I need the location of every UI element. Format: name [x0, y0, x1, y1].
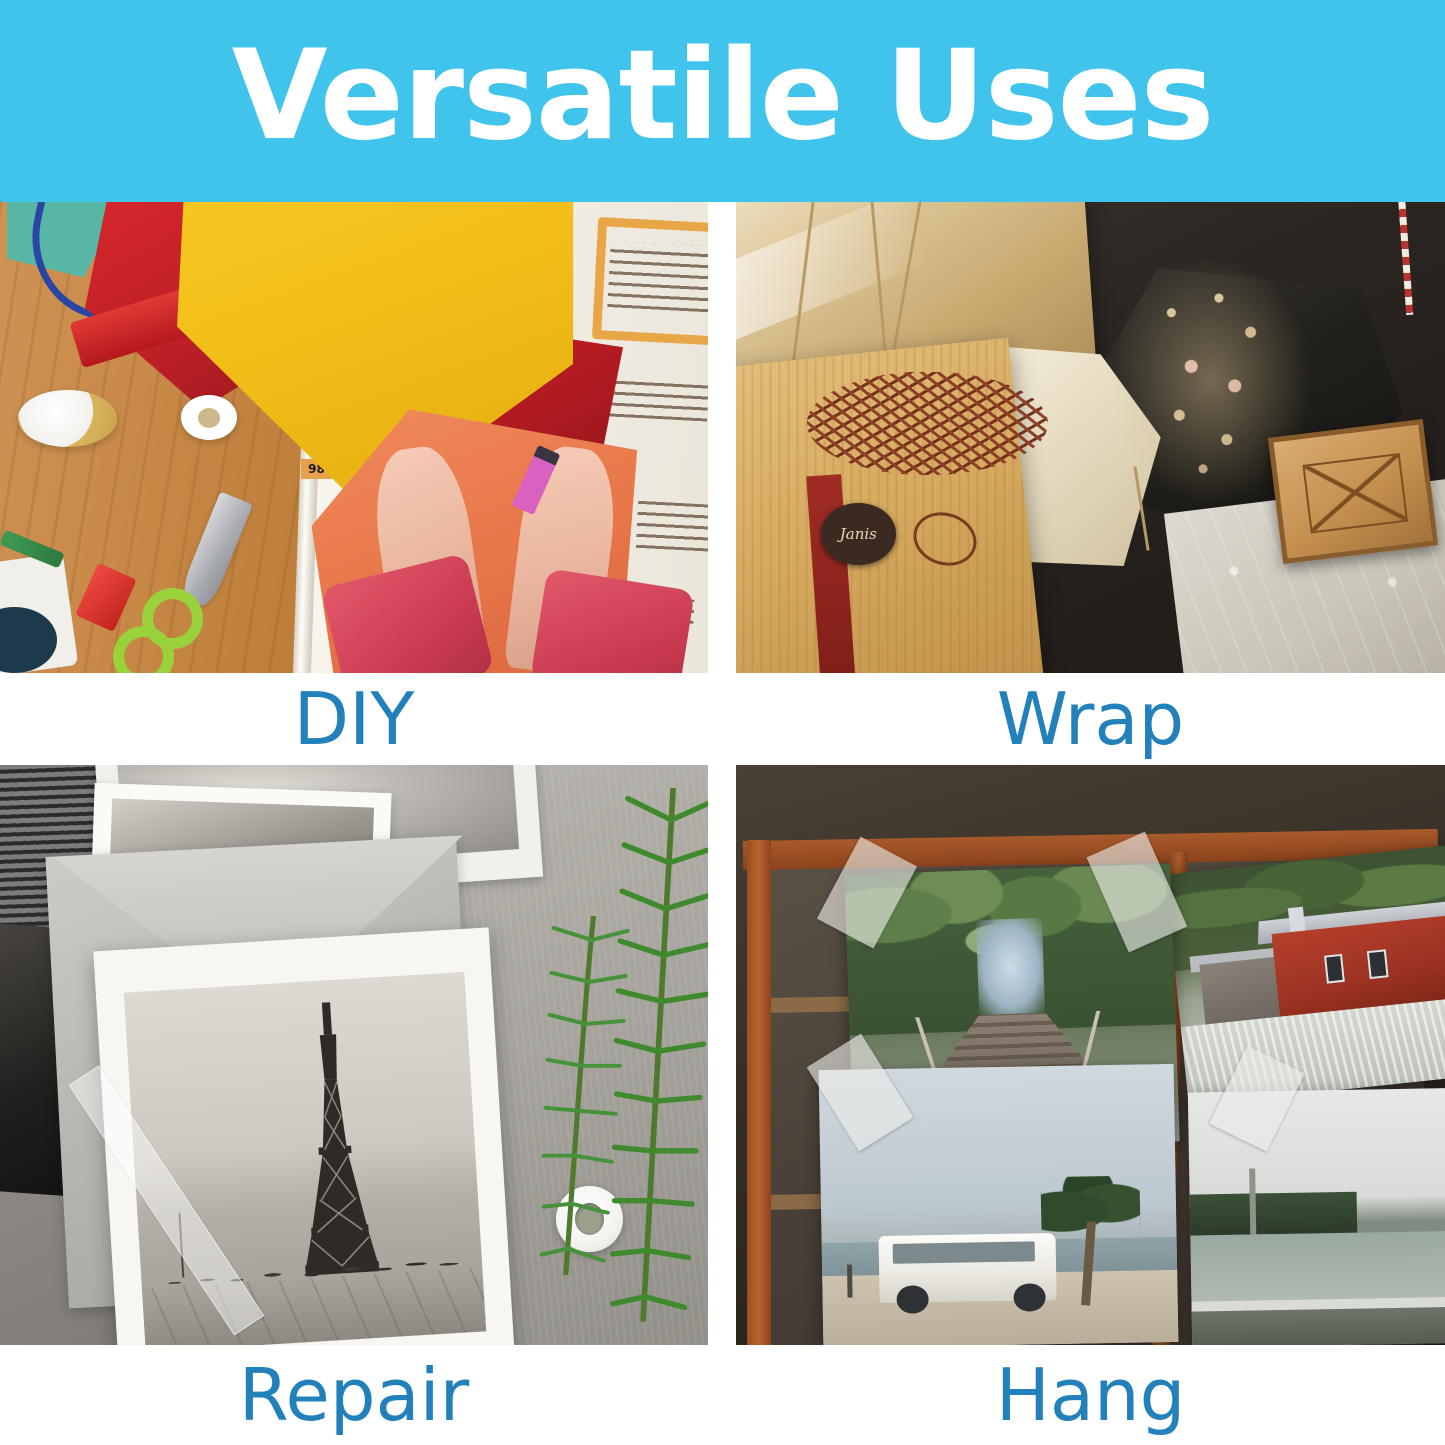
header-banner: Versatile Uses — [0, 0, 1445, 202]
panel-diy: 98 — [0, 202, 708, 673]
diy-photo: 98 — [0, 202, 708, 673]
gift-tag: Janis — [821, 503, 895, 564]
eiffel-photo-print — [93, 927, 515, 1345]
caption-repair: Repair — [0, 1345, 708, 1445]
wrap-photo: Janis — [736, 202, 1445, 673]
caption-label-hang: Hang — [996, 1359, 1186, 1431]
panel-wrap: Janis — [736, 202, 1445, 673]
caption-label-wrap: Wrap — [997, 683, 1184, 755]
hang-photo — [736, 765, 1445, 1345]
caption-hang: Hang — [736, 1345, 1445, 1445]
glue-bottle-icon — [18, 390, 117, 447]
panel-repair — [0, 765, 708, 1345]
gift-tag-label: Janis — [840, 525, 877, 543]
repair-photo — [0, 765, 708, 1345]
wooden-box-icon — [1268, 419, 1438, 564]
caption-label-repair: Repair — [239, 1359, 470, 1431]
cabin-photo-print — [1164, 842, 1445, 1105]
uses-grid: 98 — [0, 202, 1445, 1445]
caption-wrap: Wrap — [736, 673, 1445, 765]
caption-diy: DIY — [0, 673, 708, 765]
raffia-bow-icon — [807, 372, 1048, 476]
page-title: Versatile Uses — [232, 34, 1214, 168]
evergreen-sprig-icon — [538, 916, 637, 1276]
panel-hang — [736, 765, 1445, 1345]
infographic-root: Versatile Uses 98 — [0, 0, 1445, 1445]
caption-label-diy: DIY — [294, 683, 415, 755]
tape-roll-icon — [181, 395, 238, 440]
